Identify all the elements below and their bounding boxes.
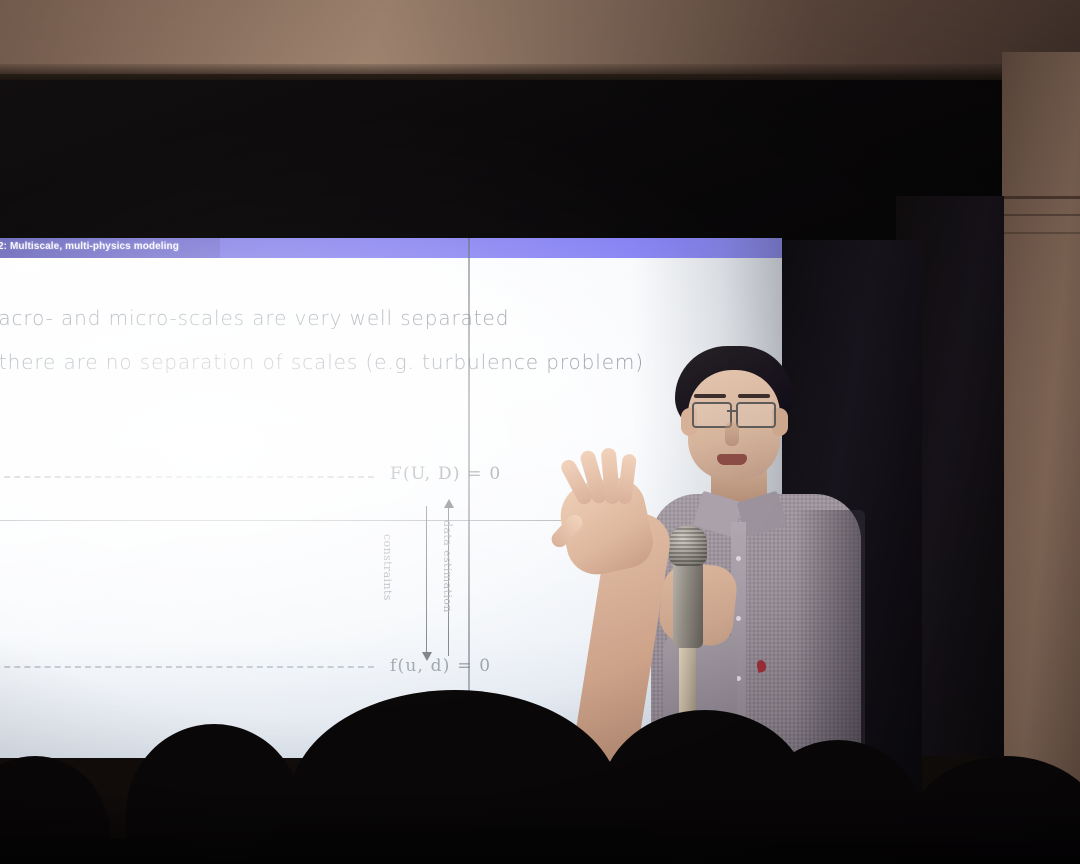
foreground-vignette bbox=[0, 790, 1080, 864]
data-estimation-arrow-head-icon bbox=[444, 499, 454, 508]
slide-body-line-1: macro- and micro-scales are very well se… bbox=[0, 306, 509, 330]
macro-equation: F(U, D) = 0 bbox=[390, 464, 501, 484]
lecture-photo-scene: 2: Multiscale, multi-physics modeling ma… bbox=[0, 0, 1080, 864]
speaker-nose bbox=[725, 422, 739, 446]
constraints-label: constraints bbox=[381, 534, 394, 601]
shirt-button-2 bbox=[736, 616, 741, 621]
speaker-mouth bbox=[717, 454, 747, 465]
speaker-eyebrow-left bbox=[694, 394, 726, 398]
slide-body-line-2: n there are no separation of scales (e.g… bbox=[0, 350, 644, 374]
wall-molding-line-2 bbox=[1002, 214, 1080, 216]
wall-molding-line-1 bbox=[1002, 196, 1080, 199]
shirt-button-1 bbox=[736, 556, 741, 561]
speaker-eyebrow-right bbox=[738, 394, 770, 398]
wall-molding-line-3 bbox=[1002, 232, 1080, 234]
data-estimation-label: data estimation bbox=[441, 520, 454, 613]
macro-dashed-rule bbox=[0, 476, 374, 478]
constraints-arrow-shaft bbox=[426, 506, 427, 656]
right-side-wall bbox=[1002, 52, 1080, 864]
slide-title-text: 2: Multiscale, multi-physics modeling bbox=[0, 241, 179, 252]
dark-wall-panel-above-screen bbox=[0, 80, 1008, 240]
microphone-grille-texture bbox=[669, 526, 707, 566]
microphone-body bbox=[673, 552, 703, 648]
glasses-lens-right-icon bbox=[736, 402, 776, 428]
glasses-bridge-icon bbox=[727, 410, 738, 412]
